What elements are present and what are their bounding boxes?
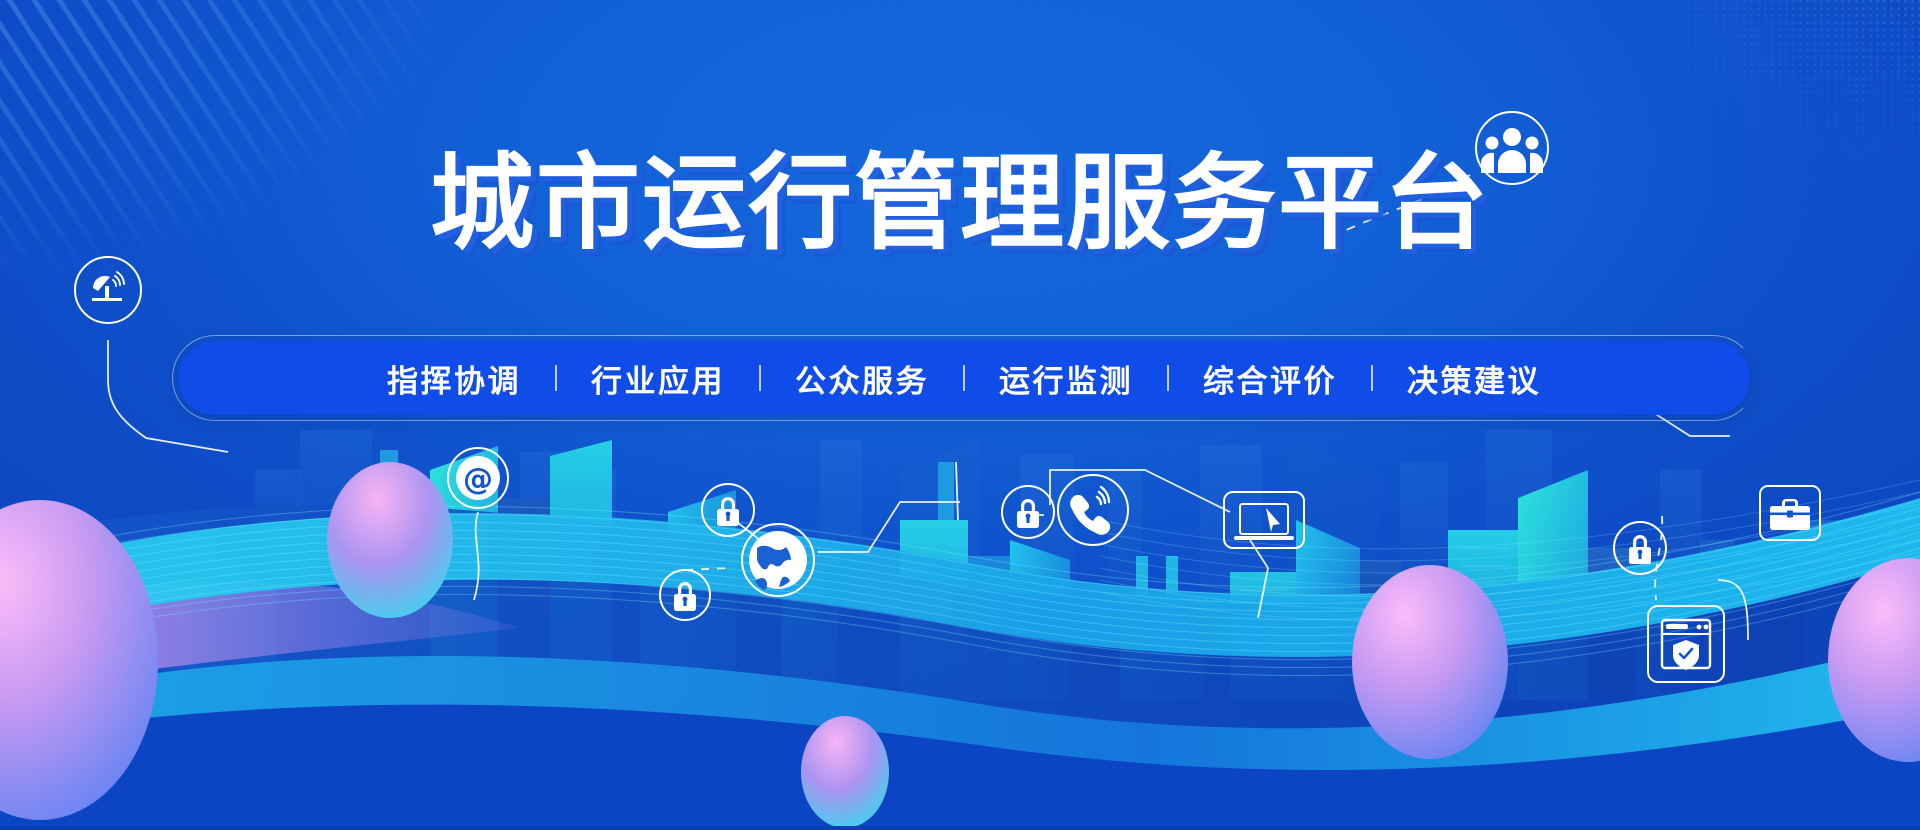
- satellite-dish-icon: [75, 257, 141, 323]
- nav-item-3[interactable]: 公众服务: [761, 356, 963, 401]
- at-sign-icon: @: [448, 448, 508, 508]
- nav-item-1[interactable]: 指挥协调: [353, 356, 555, 401]
- nav-item-5[interactable]: 综合评价: [1169, 356, 1371, 401]
- people-group-icon: [1476, 112, 1548, 184]
- nav-item-6[interactable]: 决策建议: [1373, 356, 1575, 401]
- main-nav: 指挥协调行业应用公众服务运行监测综合评价决策建议: [178, 341, 1750, 415]
- at-sign-glyph: @: [463, 462, 493, 497]
- globe-icon: [742, 524, 814, 596]
- main-nav-items: 指挥协调行业应用公众服务运行监测综合评价决策建议: [353, 356, 1575, 401]
- sphere-mid-right: [1352, 565, 1508, 759]
- sphere-mid-left: [327, 462, 453, 618]
- bottom-edge-line: [0, 826, 1920, 830]
- nav-item-2[interactable]: 行业应用: [557, 356, 759, 401]
- city-illustration: @: [0, 0, 1920, 830]
- sphere-center: [801, 716, 889, 828]
- nav-item-4[interactable]: 运行监测: [965, 356, 1167, 401]
- banner-root: @: [0, 0, 1920, 830]
